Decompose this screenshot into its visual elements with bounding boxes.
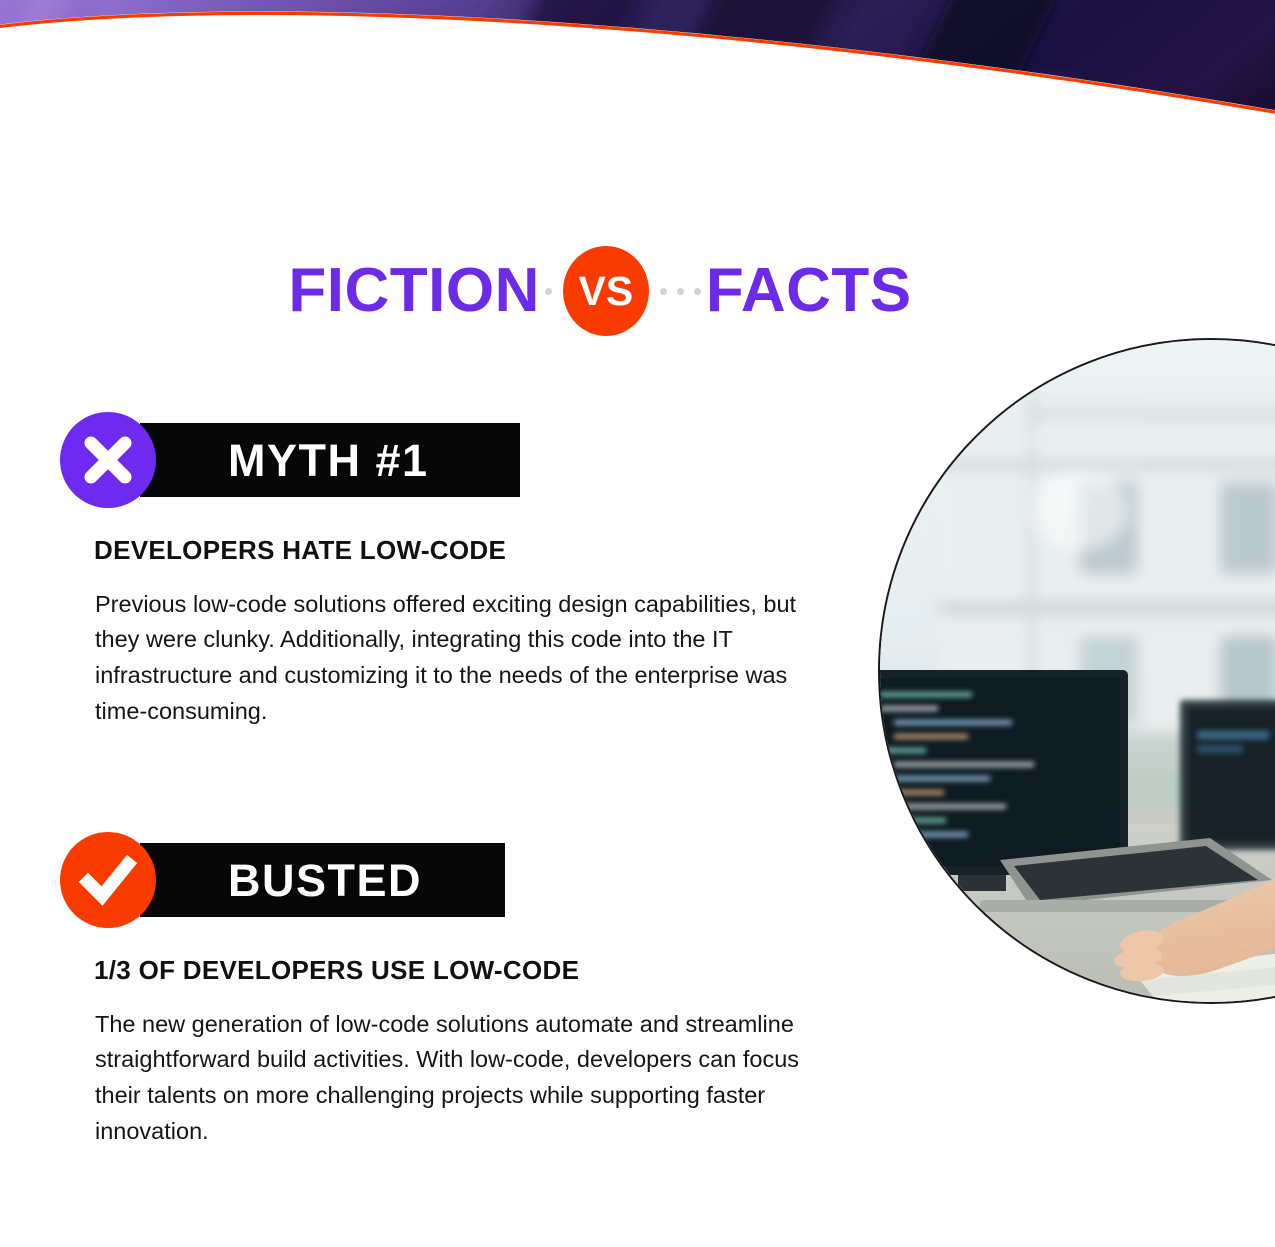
badge-row-myth: MYTH #1 [60,405,825,505]
body-text-busted: The new generation of low-code solutions… [95,1007,825,1150]
section-myth: MYTH #1 DEVELOPERS HATE LOW-CODE Previou… [60,405,825,729]
badge-label-busted: BUSTED [228,858,422,903]
heading-myth: DEVELOPERS HATE LOW-CODE [94,536,825,565]
check-mark-icon [60,832,156,928]
dot [545,288,552,295]
x-mark-icon [60,412,156,508]
developer-at-desk-photo [878,338,1275,1004]
orange-accent-line [0,13,1275,120]
badge-bar-myth: MYTH #1 [140,423,520,497]
section-busted: BUSTED 1/3 OF DEVELOPERS USE LOW-CODE Th… [60,825,825,1149]
dot [694,288,701,295]
body-busted: The new generation of low-code solutions… [95,1007,825,1150]
badge-label-myth: MYTH #1 [228,438,429,483]
badge-bar-busted: BUSTED [140,843,505,917]
dot [677,288,684,295]
heading-busted: 1/3 OF DEVELOPERS USE LOW-CODE [94,956,825,985]
dots-left [540,288,557,295]
vs-badge: VS [563,246,649,336]
vs-label: VS [579,271,634,312]
title-word-facts: FACTS [706,260,912,322]
badge-row-busted: BUSTED [60,825,825,925]
body-text-myth: Previous low-code solutions offered exci… [95,587,825,730]
body-myth: Previous low-code solutions offered exci… [95,587,825,730]
infographic-page: FICTION VS FACTS [0,0,1275,1247]
dot [660,288,667,295]
title-fiction-vs-facts: FICTION VS FACTS [0,243,1200,339]
title-word-fiction: FICTION [288,260,539,322]
dots-right [655,288,706,295]
